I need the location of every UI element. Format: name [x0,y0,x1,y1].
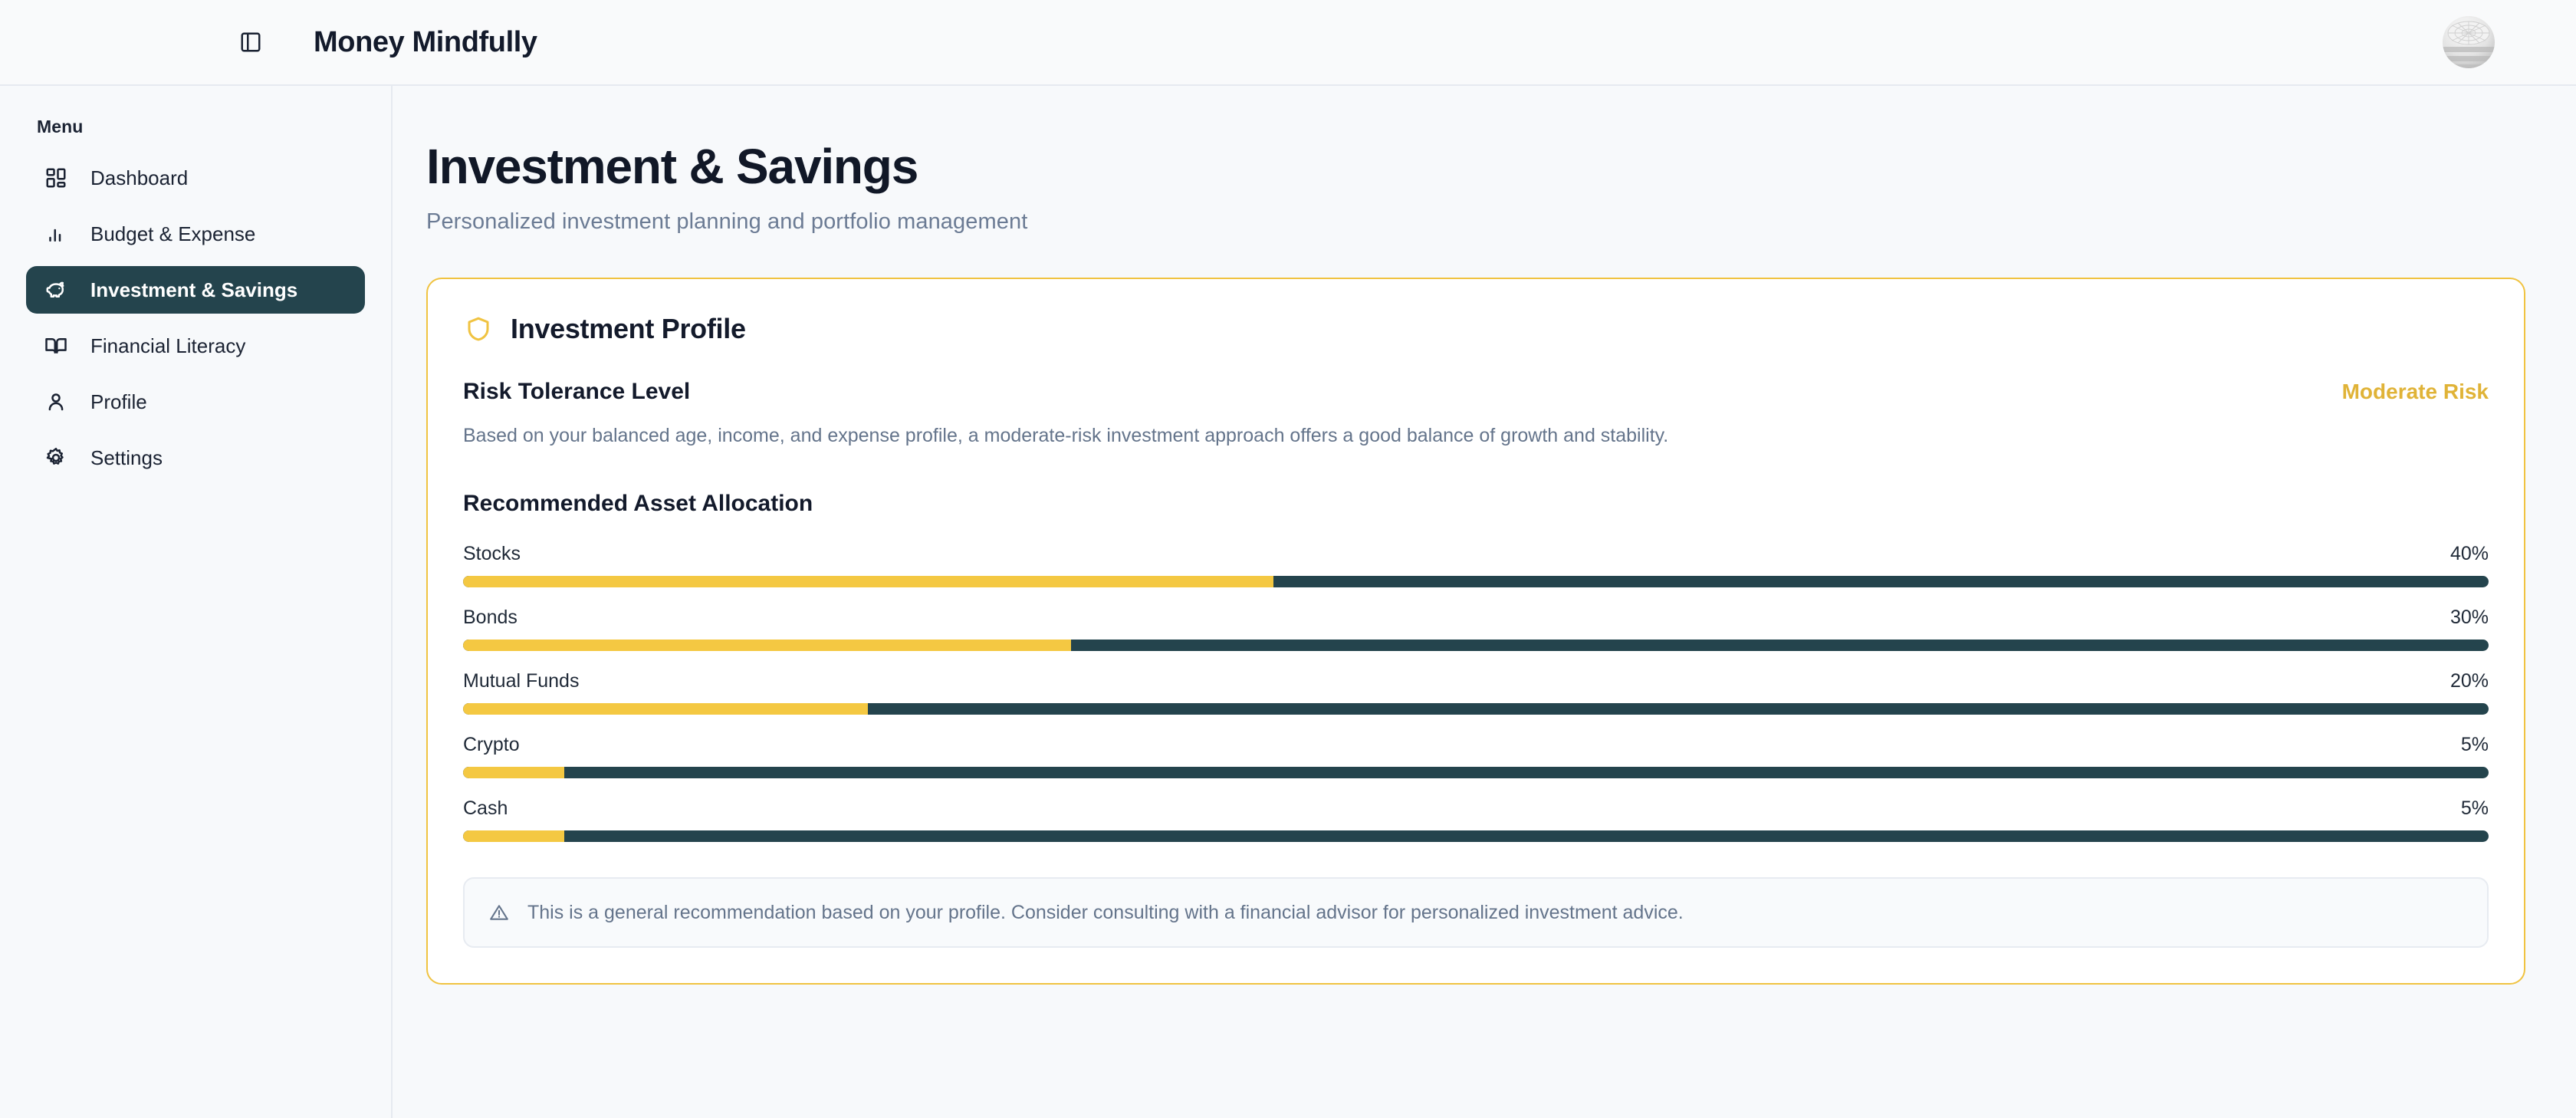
allocation-row-header: Stocks 40% [463,543,2489,565]
allocation-heading: Recommended Asset Allocation [463,491,2489,517]
allocation-progress-fill [463,640,1071,651]
sidebar: Menu Dashboard [0,86,393,1118]
risk-level-badge: Moderate Risk [2342,380,2489,404]
allocation-label: Cash [463,797,508,820]
sidebar-item-label: Financial Literacy [90,334,245,358]
allocation-row: Bonds 30% [463,607,2489,651]
brand-title: Money Mindfully [314,26,537,59]
allocation-progress-track [463,703,2489,715]
allocation-progress-fill [463,576,1273,587]
risk-tolerance-heading: Risk Tolerance Level [463,379,690,405]
sidebar-item-financial-literacy[interactable]: Financial Literacy [26,322,365,370]
allocation-progress-track [463,767,2489,778]
page-subtitle: Personalized investment planning and por… [426,209,2525,235]
risk-tolerance-row: Risk Tolerance Level Moderate Risk [463,379,2489,405]
allocation-row-header: Crypto 5% [463,734,2489,756]
sidebar-section-label: Menu [26,117,365,137]
allocation-row: Cash 5% [463,797,2489,842]
allocation-label: Stocks [463,543,521,565]
panel-toggle-icon[interactable] [230,21,271,63]
sidebar-item-budget-expense[interactable]: Budget & Expense [26,210,365,258]
allocation-percent: 40% [2450,543,2489,565]
page-title: Investment & Savings [426,141,2525,192]
user-icon [43,389,69,415]
sidebar-item-label: Dashboard [90,166,188,190]
allocation-progress-track [463,576,2489,587]
sidebar-item-dashboard[interactable]: Dashboard [26,154,365,202]
sidebar-item-settings[interactable]: Settings [26,434,365,482]
allocation-row-header: Bonds 30% [463,607,2489,629]
allocation-percent: 20% [2450,670,2489,692]
allocation-progress-fill [463,703,868,715]
shield-icon [463,314,494,344]
avatar[interactable] [2443,16,2495,68]
disclaimer-note: This is a general recommendation based o… [463,877,2489,949]
allocation-label: Bonds [463,607,517,629]
investment-profile-card: Investment Profile Risk Tolerance Level … [426,278,2525,985]
allocation-progress-fill [463,767,564,778]
allocation-percent: 5% [2461,734,2489,756]
grid-icon [43,165,69,191]
card-header: Investment Profile [463,313,2489,345]
sidebar-item-label: Budget & Expense [90,222,255,246]
piggy-bank-icon [43,277,69,303]
allocation-row: Mutual Funds 20% [463,670,2489,715]
asset-allocation-list: Stocks 40% Bonds 30% [463,543,2489,842]
allocation-percent: 30% [2450,607,2489,629]
bar-chart-icon [43,221,69,247]
allocation-label: Mutual Funds [463,670,579,692]
allocation-progress-fill [463,830,564,842]
risk-description: Based on your balanced age, income, and … [463,423,2489,449]
sidebar-item-investment-savings[interactable]: Investment & Savings [26,266,365,314]
book-open-icon [43,333,69,359]
sidebar-item-label: Investment & Savings [90,278,297,302]
allocation-row: Stocks 40% [463,543,2489,587]
disclaimer-text: This is a general recommendation based o… [527,900,1684,926]
allocation-progress-track [463,830,2489,842]
sidebar-item-profile[interactable]: Profile [26,378,365,426]
gear-icon [43,445,69,471]
sidebar-item-label: Profile [90,390,147,414]
top-bar: Money Mindfully [0,0,2576,86]
main-content: Investment & Savings Personalized invest… [393,86,2576,1118]
allocation-percent: 5% [2461,797,2489,820]
allocation-row-header: Mutual Funds 20% [463,670,2489,692]
allocation-row: Crypto 5% [463,734,2489,778]
warning-triangle-icon [488,901,511,924]
sidebar-item-label: Settings [90,446,163,470]
app-root: Money Mindfully [0,0,2576,1118]
allocation-row-header: Cash 5% [463,797,2489,820]
card-title: Investment Profile [511,313,746,345]
allocation-progress-track [463,640,2489,651]
body-row: Menu Dashboard [0,86,2576,1118]
allocation-label: Crypto [463,734,520,756]
